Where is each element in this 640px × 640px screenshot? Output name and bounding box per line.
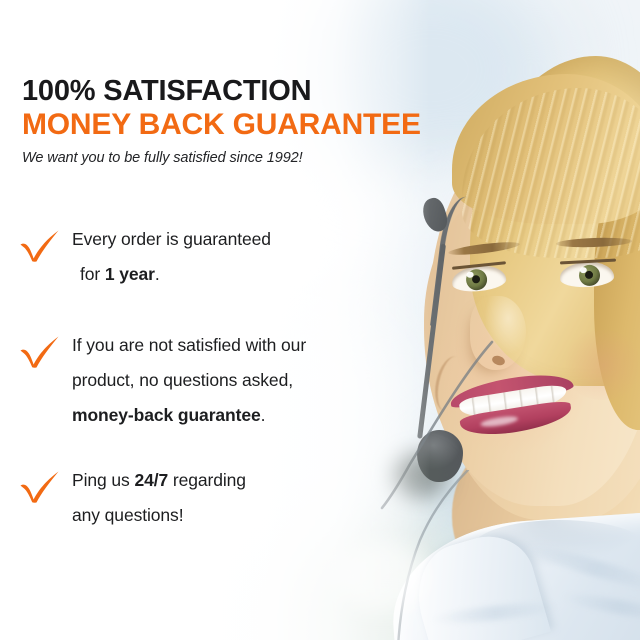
- text-run: for: [80, 264, 105, 284]
- check-icon: [18, 328, 62, 368]
- list-item: Ping us 24/7 regarding any questions!: [18, 463, 408, 533]
- headline-line-2: MONEY BACK GUARANTEE: [22, 108, 421, 142]
- list-item-text: Every order is guaranteed for 1 year.: [62, 222, 271, 292]
- check-icon: [18, 463, 62, 503]
- text-run: any questions!: [72, 505, 183, 525]
- text-run: .: [155, 264, 160, 284]
- text-run: regarding: [168, 470, 246, 490]
- list-item-text: Ping us 24/7 regarding any questions!: [62, 463, 246, 533]
- list-item-text: If you are not satisfied with our produc…: [62, 328, 306, 433]
- text-run: Ping us: [72, 470, 134, 490]
- text-run: .: [261, 405, 266, 425]
- check-icon: [18, 222, 62, 262]
- text-run-bold: 1 year: [105, 264, 155, 284]
- list-item: Every order is guaranteed for 1 year.: [18, 222, 408, 292]
- text-run-bold: money-back guarantee: [72, 405, 261, 425]
- text-run: If you are not satisfied with our: [72, 335, 306, 355]
- text-run: product, no questions asked,: [72, 370, 293, 390]
- list-item: If you are not satisfied with our produc…: [18, 328, 408, 433]
- text-run-bold: 24/7: [134, 470, 168, 490]
- promo-banner: 100% SATISFACTION MONEY BACK GUARANTEE W…: [0, 0, 640, 640]
- text-run: Every order is guaranteed: [72, 229, 271, 249]
- headline-block: 100% SATISFACTION MONEY BACK GUARANTEE W…: [22, 74, 421, 166]
- headline-line-1: 100% SATISFACTION: [22, 74, 421, 108]
- headline-subtitle: We want you to be fully satisfied since …: [22, 150, 421, 166]
- copy-container: 100% SATISFACTION MONEY BACK GUARANTEE W…: [0, 0, 640, 640]
- guarantee-list: Every order is guaranteed for 1 year. If…: [18, 222, 408, 557]
